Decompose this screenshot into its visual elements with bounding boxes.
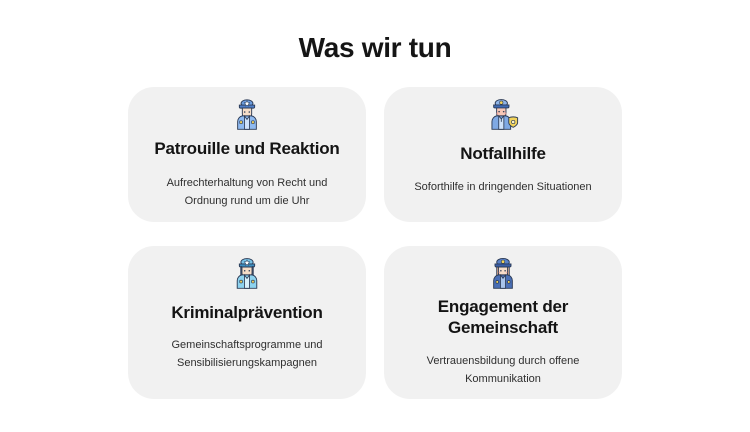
service-card-notfallhilfe[interactable]: Notfallhilfe Soforthilfe in dringenden S… [384, 87, 622, 222]
service-card-description: Aufrechterhaltung von Recht und Ordnung … [147, 174, 347, 210]
police-officer-with-badge-icon [486, 97, 520, 137]
services-section: Was wir tun [0, 0, 750, 432]
service-card-title: Engagement der Gemeinschaft [400, 296, 606, 339]
service-card-patrouille-und-reaktion[interactable]: Patrouille und Reaktion Aufrechterhaltun… [128, 87, 366, 222]
service-card-description: Gemeinschaftsprogramme und Sensibilisier… [147, 336, 347, 372]
service-card-description: Soforthilfe in dringenden Situationen [414, 178, 591, 196]
service-cards-grid: Patrouille und Reaktion Aufrechterhaltun… [128, 65, 622, 399]
page-title: Was wir tun [0, 0, 750, 65]
service-card-title: Notfallhilfe [460, 143, 545, 164]
service-card-title: Kriminalprävention [171, 302, 322, 323]
service-card-engagement-der-gemeinschaft[interactable]: Engagement der Gemeinschaft Vertrauensbi… [384, 246, 622, 399]
female-police-officer-icon [230, 256, 264, 296]
service-card-kriminalpraevention[interactable]: Kriminalprävention Gemeinschaftsprogramm… [128, 246, 366, 399]
service-card-title: Patrouille und Reaktion [154, 138, 339, 159]
police-officer-icon [230, 97, 264, 132]
female-police-officer-long-hair-icon [486, 256, 520, 290]
service-card-description: Vertrauensbildung durch offene Kommunika… [403, 352, 603, 388]
